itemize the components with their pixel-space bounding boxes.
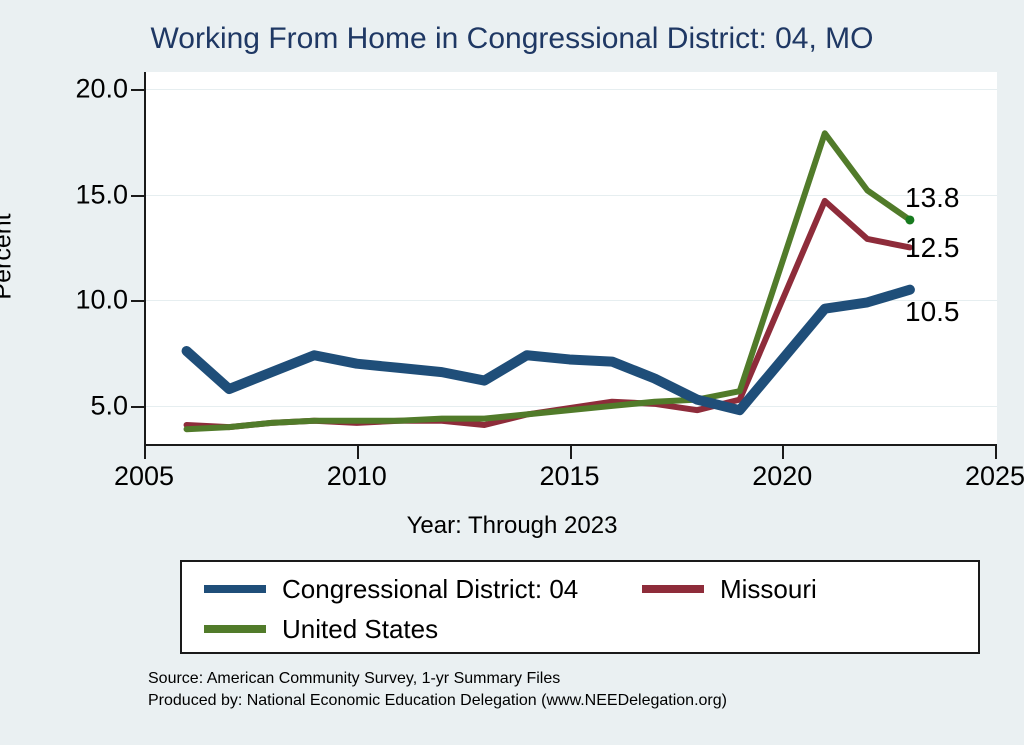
legend-label: Missouri	[720, 576, 817, 602]
end-value-label: 13.8	[905, 182, 960, 214]
end-value-label: 10.5	[905, 296, 960, 328]
series-line	[187, 133, 910, 429]
footer-source: Source: American Community Survey, 1-yr …	[148, 668, 727, 690]
legend-item-nation[interactable]: United States	[204, 616, 438, 642]
legend-swatch-icon	[204, 625, 266, 633]
end-value-label: 12.5	[905, 232, 960, 264]
chart-container: Working From Home in Congressional Distr…	[0, 0, 1024, 745]
legend-swatch-icon	[204, 585, 266, 593]
legend-swatch-icon	[642, 585, 704, 593]
legend: Congressional District: 04MissouriUnited…	[180, 560, 980, 654]
footer-producer: Produced by: National Economic Education…	[148, 690, 727, 712]
legend-item-state[interactable]: Missouri	[642, 576, 817, 602]
legend-label: Congressional District: 04	[282, 576, 578, 602]
footer-notes: Source: American Community Survey, 1-yr …	[148, 668, 727, 711]
series-end-marker	[905, 215, 914, 224]
series-line	[187, 290, 910, 410]
legend-item-district[interactable]: Congressional District: 04	[204, 576, 578, 602]
legend-label: United States	[282, 616, 438, 642]
series-line	[187, 201, 910, 427]
